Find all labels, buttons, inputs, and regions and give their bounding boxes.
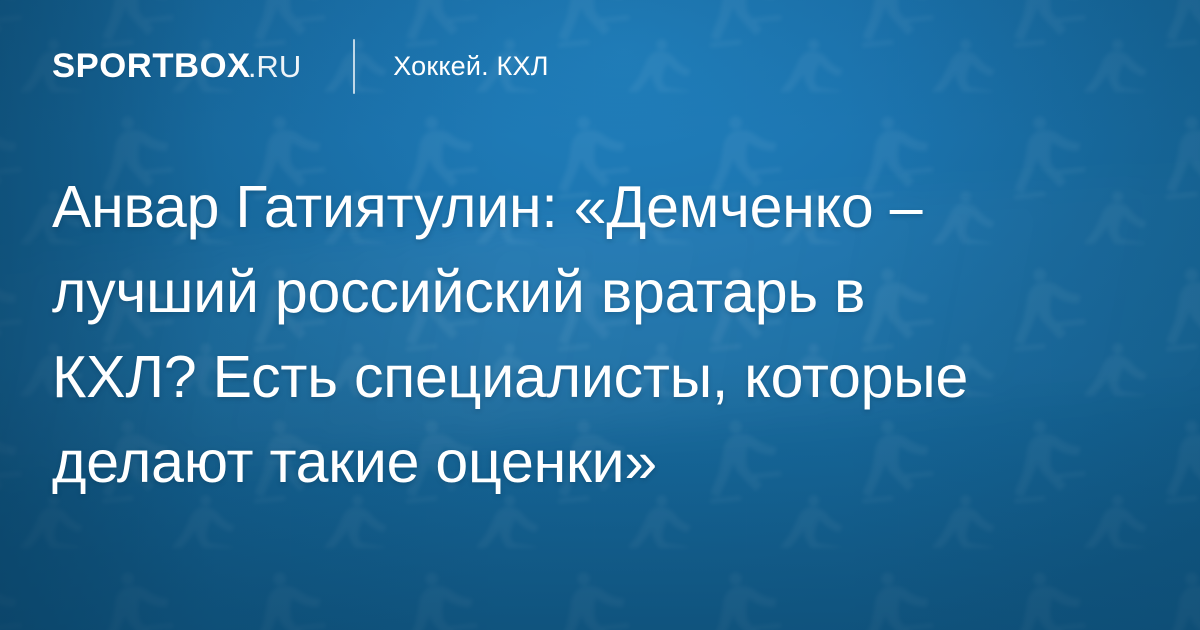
logo-wordmark: SPORTBOX xyxy=(52,49,251,83)
sportbox-logo[interactable]: SPORTBOX .RU xyxy=(52,49,301,83)
headline-title: Анвар Гатиятулин: «Демченко – лучший рос… xyxy=(52,165,1142,505)
logo-domain-suffix: .RU xyxy=(248,51,301,82)
headline-line: лучший российский вратарь в xyxy=(52,250,1142,335)
headline-line: Анвар Гатиятулин: «Демченко – xyxy=(52,165,1142,250)
headline-line: КХЛ? Есть специалисты, которые xyxy=(52,335,1142,420)
social-share-card: SPORTBOX .RU Хоккей. КХЛ Анвар Гатиятули… xyxy=(0,0,1200,630)
site-header: SPORTBOX .RU Хоккей. КХЛ xyxy=(52,40,549,92)
header-divider xyxy=(353,39,355,94)
headline-line: делают такие оценки» xyxy=(52,420,1142,505)
category-label: Хоккей. КХЛ xyxy=(393,51,548,82)
